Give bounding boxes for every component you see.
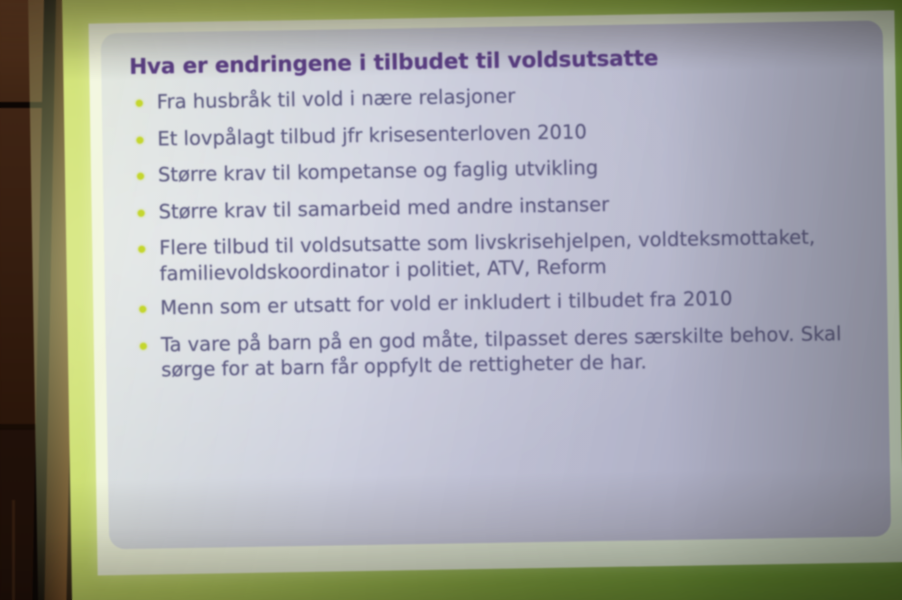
bullet-text: Flere tilbud til voldsutsatte som livskr…	[159, 226, 815, 285]
slide-content: Hva er endringene i tilbudet til voldsut…	[129, 43, 875, 541]
bullet-item-1: Fra husbråk til vold i nære relasjoner	[130, 78, 868, 116]
slide-frame: Hva er endringene i tilbudet til voldsut…	[88, 10, 902, 575]
bullet-text: Menn som er utsatt for vold er inkludert…	[160, 287, 733, 319]
slide-body: Hva er endringene i tilbudet til voldsut…	[101, 20, 891, 549]
bullet-text: Større krav til kompetanse og faglig utv…	[158, 156, 599, 186]
bullet-item-4: Større krav til samarbeid med andre inst…	[131, 187, 869, 225]
bullet-item-6: Menn som er utsatt for vold er inkludert…	[133, 284, 871, 322]
bullet-text: Fra husbråk til vold i nære relasjoner	[157, 84, 516, 113]
bullet-item-5: Flere tilbud til voldsutsatte som livskr…	[132, 224, 871, 287]
projection-screen: Hva er endringene i tilbudet til voldsut…	[62, 0, 902, 600]
bullet-item-2: Et lovpålagt tilbud jfr krisesenterloven…	[130, 114, 868, 152]
presentation-photo-scene: Hva er endringene i tilbudet til voldsut…	[0, 0, 902, 600]
bullet-text: Et lovpålagt tilbud jfr krisesenterloven…	[157, 120, 587, 150]
bullet-item-7: Ta vare på barn på en god måte, tilpasse…	[134, 320, 873, 383]
wall-door-seam	[12, 500, 15, 600]
slide-bullet-list: Fra husbråk til vold i nære relasjoner E…	[130, 78, 873, 384]
bullet-item-3: Større krav til kompetanse og faglig utv…	[131, 151, 869, 189]
slide-title: Hva er endringene i tilbudet til voldsut…	[129, 43, 867, 80]
bullet-text: Større krav til samarbeid med andre inst…	[158, 192, 609, 222]
bullet-text: Ta vare på barn på en god måte, tilpasse…	[161, 322, 842, 382]
